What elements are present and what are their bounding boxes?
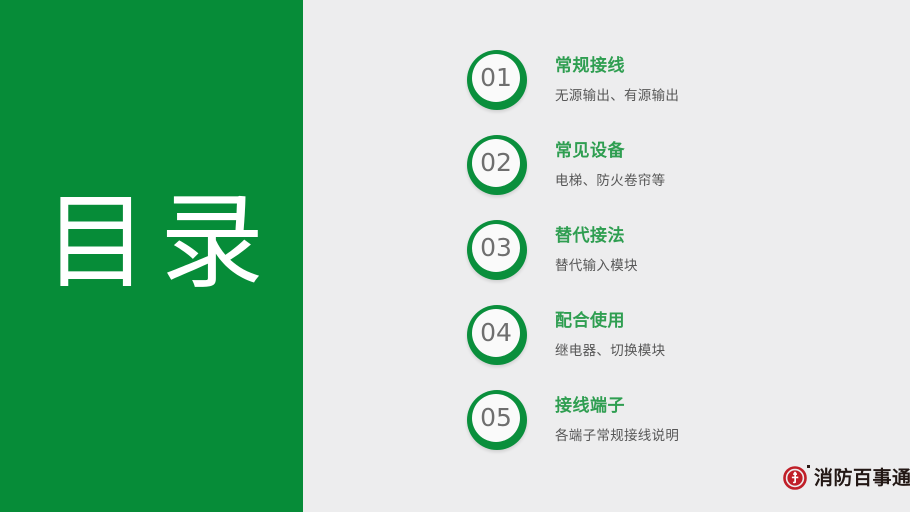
list-item-text: 常规接线 无源输出、有源输出: [555, 55, 679, 105]
list-item-heading: 配合使用: [555, 310, 665, 332]
number-badge: 01: [467, 50, 527, 110]
number-badge: 03: [467, 220, 527, 280]
list-item-subtitle: 无源输出、有源输出: [555, 87, 679, 105]
list-item-text: 替代接法 替代输入模块: [555, 225, 638, 275]
number-badge-label: 05: [480, 405, 512, 431]
number-badge: 02: [467, 135, 527, 195]
list-item[interactable]: 01 常规接线 无源输出、有源输出: [467, 45, 887, 115]
brand-name: 消防百事通: [814, 466, 910, 490]
number-badge-inner: 05: [472, 394, 520, 442]
list-item-heading: 常规接线: [555, 55, 679, 77]
list-item-subtitle: 电梯、防火卷帘等: [555, 172, 665, 190]
number-badge-inner: 01: [472, 54, 520, 102]
list-item-subtitle: 各端子常规接线说明: [555, 427, 679, 445]
number-badge-label: 04: [480, 320, 512, 346]
left-green-panel: 目录: [0, 0, 303, 512]
number-badge: 04: [467, 305, 527, 365]
number-badge-label: 03: [480, 235, 512, 261]
fire-shield-icon: [783, 466, 807, 490]
number-badge-label: 01: [480, 65, 512, 91]
list-item-text: 配合使用 继电器、切换模块: [555, 310, 665, 360]
number-badge-inner: 04: [472, 309, 520, 357]
list-item-subtitle: 替代输入模块: [555, 257, 638, 275]
list-item[interactable]: 05 接线端子 各端子常规接线说明: [467, 385, 887, 455]
list-item-heading: 接线端子: [555, 395, 679, 417]
number-badge-inner: 03: [472, 224, 520, 272]
list-item-subtitle: 继电器、切换模块: [555, 342, 665, 360]
slide-root: 目录 01 常规接线 无源输出、有源输出 02 常见设备 电梯、防火卷帘等: [0, 0, 910, 512]
table-of-contents: 01 常规接线 无源输出、有源输出 02 常见设备 电梯、防火卷帘等: [303, 0, 910, 512]
list-item[interactable]: 04 配合使用 继电器、切换模块: [467, 300, 887, 370]
number-badge-label: 02: [480, 150, 512, 176]
list-item-heading: 替代接法: [555, 225, 638, 247]
number-badge: 05: [467, 390, 527, 450]
page-title: 目录: [44, 186, 284, 298]
list-item[interactable]: 03 替代接法 替代输入模块: [467, 215, 887, 285]
list-item-text: 接线端子 各端子常规接线说明: [555, 395, 679, 445]
list-item[interactable]: 02 常见设备 电梯、防火卷帘等: [467, 130, 887, 200]
list-item-text: 常见设备 电梯、防火卷帘等: [555, 140, 665, 190]
list-item-heading: 常见设备: [555, 140, 665, 162]
registered-mark-icon: [807, 465, 810, 468]
brand-logo: 消防百事通: [783, 463, 910, 493]
number-badge-inner: 02: [472, 139, 520, 187]
